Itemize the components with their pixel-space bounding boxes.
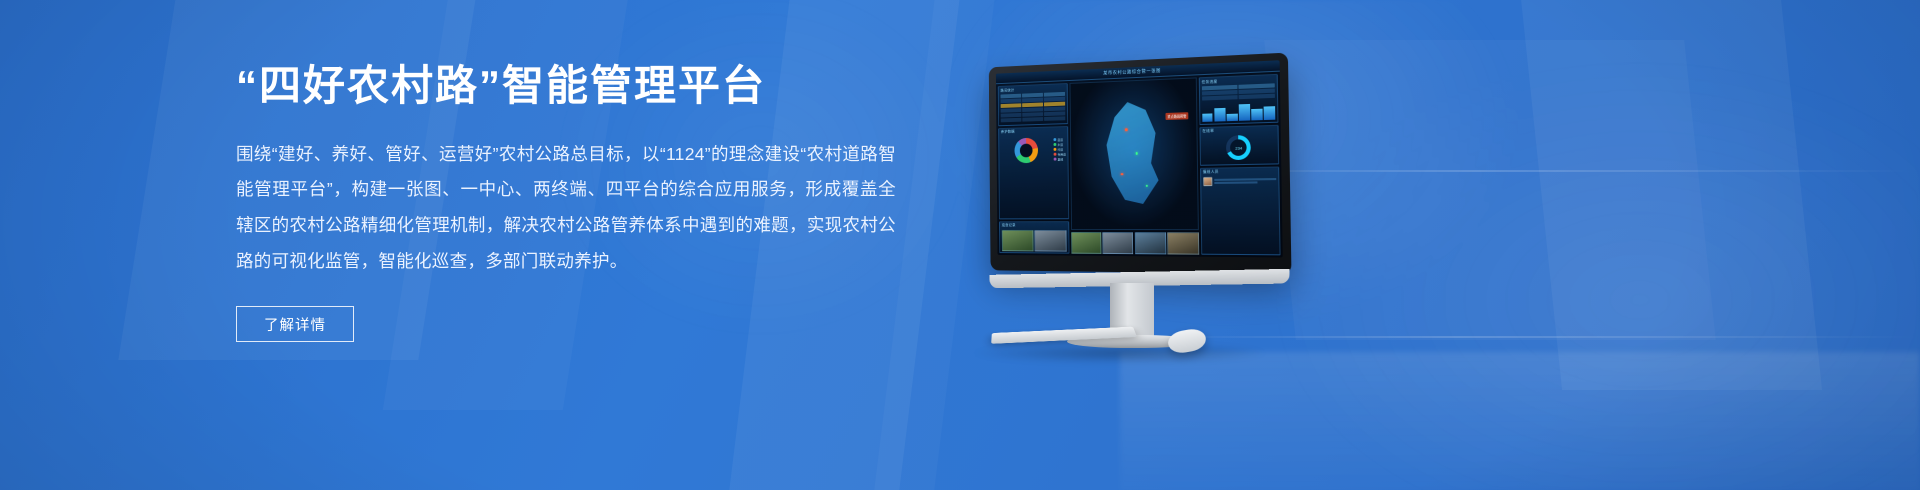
desk-shadow [970, 342, 1270, 364]
panel-title: 巡查记录 [1002, 223, 1067, 228]
panel-task-progress: 任务进度 [1199, 74, 1279, 125]
panel-maintenance-data: 养护数据 县道 乡道 村道 专用道 其他 [998, 126, 1069, 219]
hero-content: “四好农村路”智能管理平台 围绕“建好、养好、管好、运营好”农村公路总目标，以“… [236, 60, 896, 342]
panel-online-rate: 在线率 234 [1199, 124, 1279, 165]
page-title: “四好农村路”智能管理平台 [236, 60, 896, 113]
photo-thumbnails [1002, 229, 1067, 251]
region-shape [1102, 101, 1163, 209]
panel-title: 值班人员 [1203, 169, 1276, 175]
staff-entry [1203, 175, 1276, 185]
gauge-value: 234 [1235, 145, 1242, 150]
dashboard-screen: 某市农村公路综合管一张图 路况统计 养护数 [996, 60, 1283, 257]
monitor-bezel: 某市农村公路综合管一张图 路况统计 养护数 [989, 53, 1292, 275]
panel-title: 在线率 [1202, 127, 1275, 134]
road-network-map[interactable]: 重点路段预警 [1070, 77, 1199, 230]
panel-duty-staff: 值班人员 [1200, 166, 1281, 255]
gauge-chart: 234 [1226, 135, 1251, 160]
camera-feed-strip[interactable] [1071, 232, 1199, 255]
bar-chart [1202, 99, 1275, 122]
desktop-computer-illustration: 某市农村公路综合管一张图 路况统计 养护数 [960, 50, 1300, 360]
donut-chart [1014, 137, 1038, 163]
map-alert-tag: 重点路段预警 [1165, 112, 1188, 120]
panel-road-stats: 路况统计 [998, 83, 1069, 126]
hero-banner: “四好农村路”智能管理平台 围绕“建好、养好、管好、运营好”农村公路总目标，以“… [0, 0, 1920, 490]
chart-legend: 县道 乡道 村道 专用道 其他 [1054, 134, 1066, 164]
hero-description: 围绕“建好、养好、管好、运营好”农村公路总目标，以“1124”的理念建设“农村道… [236, 137, 896, 281]
panel-inspection-log: 巡查记录 [999, 221, 1070, 254]
avatar [1203, 176, 1212, 185]
learn-more-button[interactable]: 了解详情 [236, 306, 354, 342]
